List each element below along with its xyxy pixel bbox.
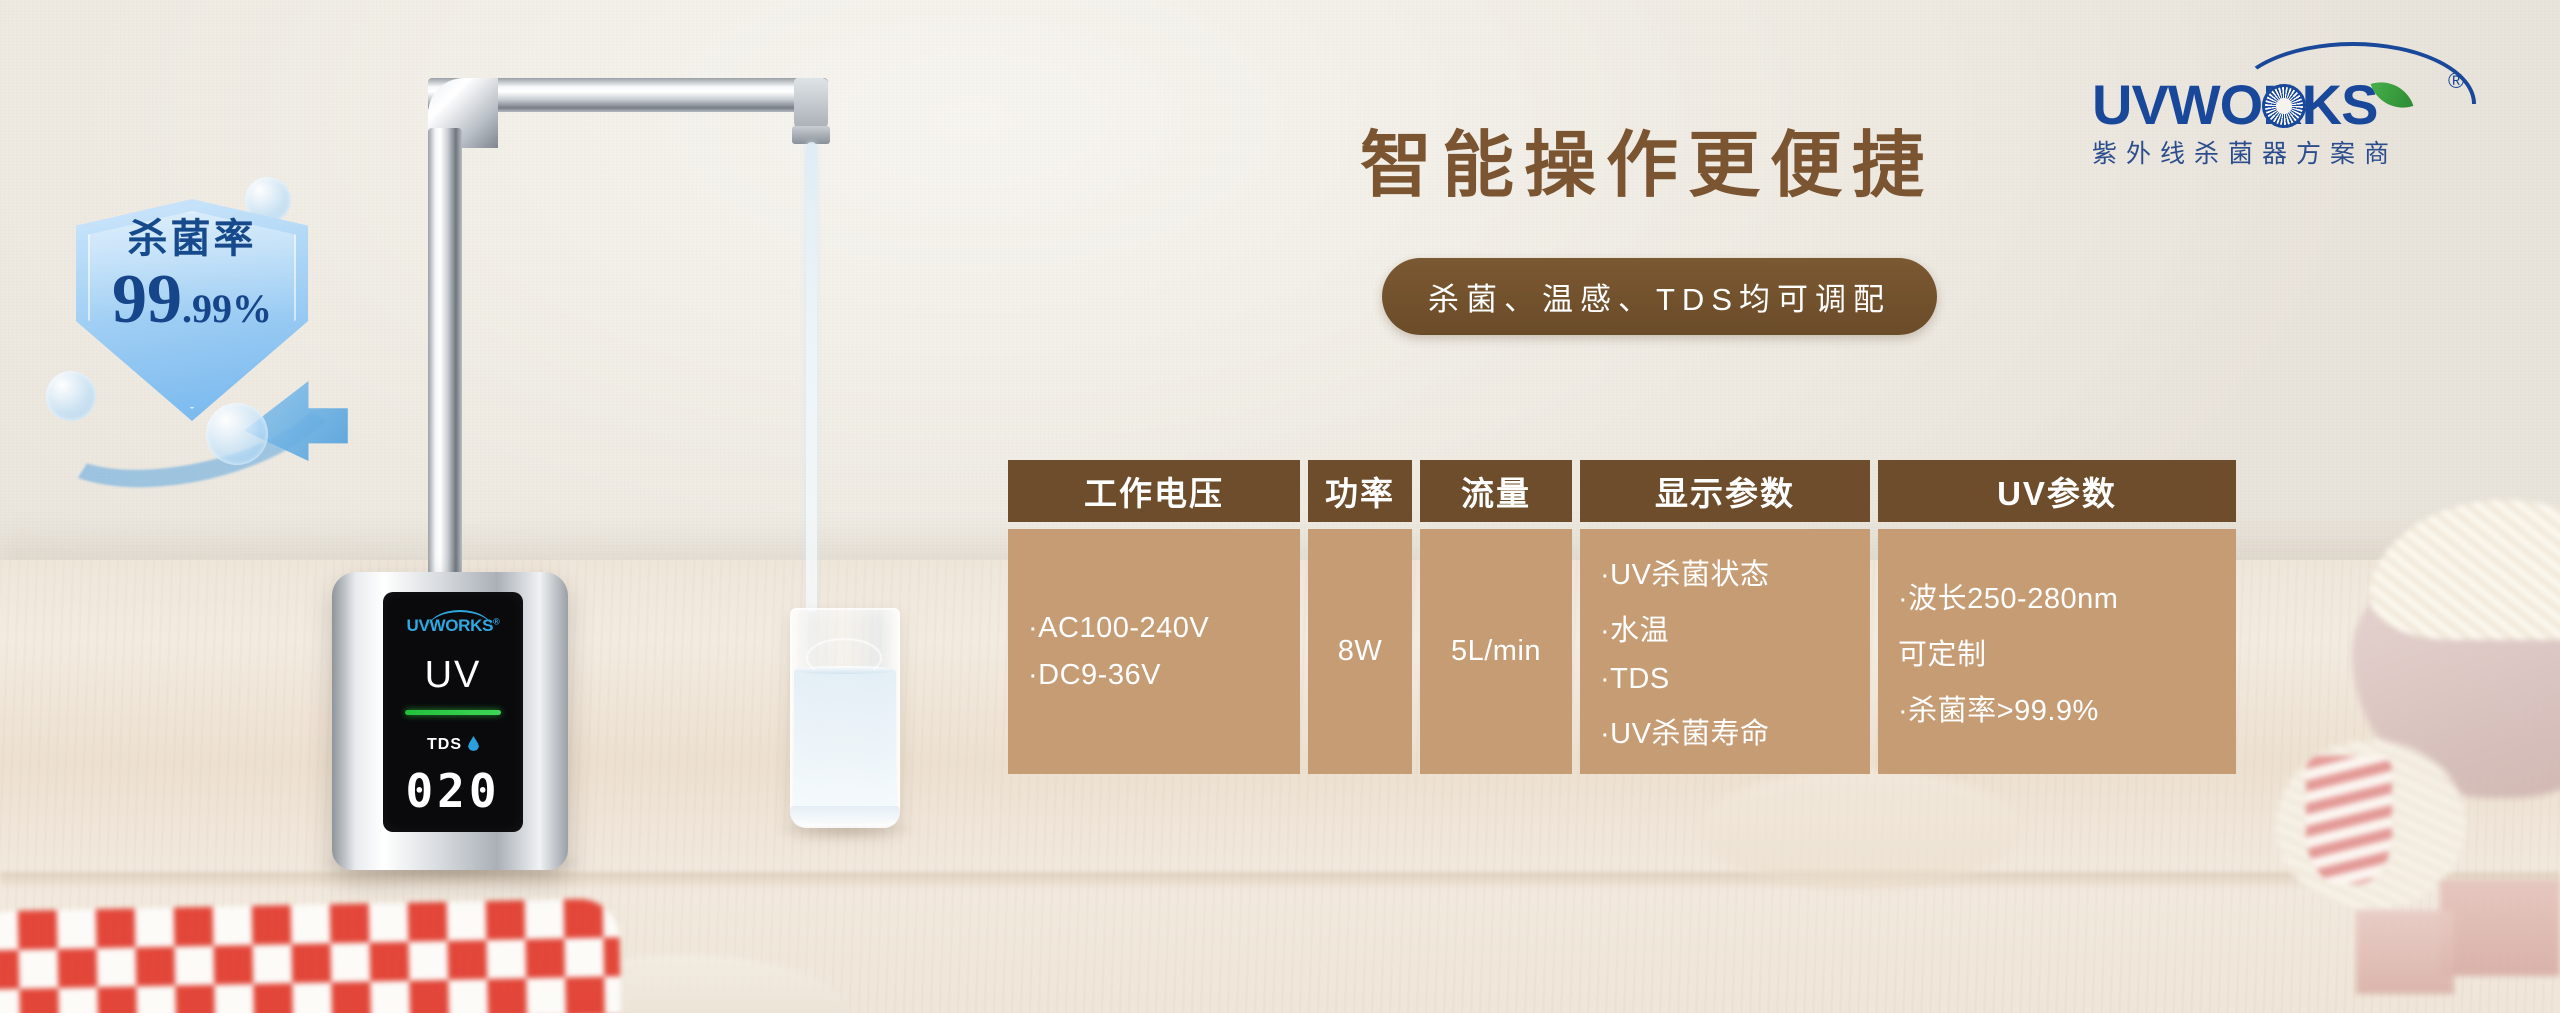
spec-column-voltage: 工作电压 ·AC100-240V ·DC9-36V: [1008, 460, 1300, 774]
logo-wordmark: UVWORKS: [2092, 72, 2377, 137]
prop-plate: [1700, 770, 2020, 890]
sunburst-core: [2276, 98, 2292, 114]
registered-mark: ®: [2448, 68, 2464, 94]
spec-body-power: 8W: [1308, 529, 1412, 774]
spec-column-uv: UV参数 ·波长250-280nm 可定制 ·杀菌率>99.9%: [1878, 460, 2236, 774]
spec-line: 5L/min: [1451, 635, 1541, 668]
spec-column-power: 功率 8W: [1308, 460, 1412, 774]
badge-value-main: 99: [112, 261, 182, 338]
subtitle-badge: 杀菌、温感、TDS均可调配: [1382, 258, 1937, 335]
brand-tagline: 紫外线杀菌器方案商: [2092, 134, 2486, 170]
spec-header-flow: 流量: [1420, 460, 1572, 522]
badge-value-decimal: .99%: [182, 286, 272, 331]
spec-body-flow: 5L/min: [1420, 529, 1572, 774]
sterilization-rate-badge: 杀菌率 99.99%: [40, 185, 340, 455]
spec-line: ·水温: [1600, 607, 1669, 649]
brand-logo: UVWORKS ® 紫外线杀菌器方案商: [2086, 34, 2486, 164]
spec-line: 8W: [1338, 635, 1383, 668]
faucet-vertical-column: [428, 128, 462, 588]
screen-brand-text: UVWORKS: [406, 616, 493, 635]
badge-text-group: 杀菌率 99.99%: [76, 219, 308, 335]
spec-body-uv: ·波长250-280nm 可定制 ·杀菌率>99.9%: [1878, 529, 2236, 774]
screen-brand-mark: ®: [493, 616, 499, 626]
spec-body-voltage: ·AC100-240V ·DC9-36V: [1008, 529, 1300, 774]
product-banner: 杀菌率 99.99% UVWORKS® UV TDS 020 智能操作更便捷 杀…: [0, 0, 2560, 1013]
spec-line: ·杀菌率>99.9%: [1898, 687, 2099, 729]
water-stream: [806, 142, 817, 612]
badge-label: 杀菌率: [76, 219, 308, 259]
spec-header-display: 显示参数: [1580, 460, 1870, 522]
screen-mode-label: UV: [383, 654, 523, 697]
badge-value: 99.99%: [76, 265, 308, 335]
screen-brand-logo: UVWORKS®: [383, 616, 523, 636]
spec-header-voltage: 工作电压: [1008, 460, 1300, 522]
prop-wood-block-b: [2356, 910, 2454, 994]
prop-checkered-cloth: [0, 898, 621, 1013]
glass-base: [790, 806, 900, 828]
screen-tds-value: 020: [383, 764, 523, 818]
prop-striped-fabric: [2306, 756, 2392, 884]
spec-line: 可定制: [1898, 631, 1987, 673]
screen-tds-row: TDS: [383, 736, 523, 754]
bubble-icon: [206, 403, 268, 465]
water-drop-icon: [468, 736, 479, 751]
prop-wood-block-a: [2440, 880, 2560, 976]
screen-tds-label: TDS: [427, 736, 462, 753]
spec-column-flow: 流量 5L/min: [1420, 460, 1572, 774]
spec-line: ·AC100-240V: [1028, 612, 1209, 645]
page-title: 智能操作更便捷: [1360, 128, 1980, 206]
spec-line: ·DC9-36V: [1028, 659, 1161, 692]
spec-body-display: ·UV杀菌状态 ·水温 ·TDS ·UV杀菌寿命: [1580, 529, 1870, 774]
spec-line: ·UV杀菌寿命: [1600, 710, 1769, 752]
spec-line: ·波长250-280nm: [1898, 575, 2118, 617]
spec-column-display: 显示参数 ·UV杀菌状态 ·水温 ·TDS ·UV杀菌寿命: [1580, 460, 1870, 774]
specifications-table: 工作电压 ·AC100-240V ·DC9-36V 功率 8W 流量 5L/mi…: [1008, 460, 2236, 774]
water-splash: [806, 638, 882, 678]
device-screen: UVWORKS® UV TDS 020: [383, 592, 523, 832]
bubble-icon: [46, 371, 96, 421]
spec-header-uv: UV参数: [1878, 460, 2236, 522]
glass-water-fill: [794, 670, 896, 820]
screen-status-bar: [405, 710, 501, 715]
spec-line: ·TDS: [1600, 663, 1670, 696]
spec-header-power: 功率: [1308, 460, 1412, 522]
faucet-spout-neck: [794, 78, 828, 130]
spec-line: ·UV杀菌状态: [1600, 551, 1769, 593]
